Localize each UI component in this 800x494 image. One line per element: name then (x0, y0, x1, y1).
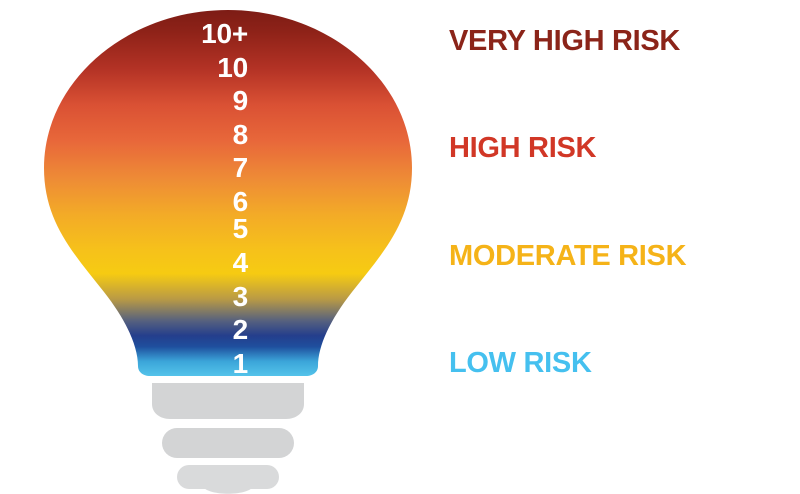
risk-label-moderate: MODERATE RISK (449, 241, 686, 271)
risk-label-high: HIGH RISK (449, 133, 596, 163)
bulb-base-segment-middle (162, 428, 294, 458)
risk-label-low: LOW RISK (449, 348, 592, 378)
bulb-base-segment-top (152, 383, 304, 419)
light-bulb-svg (0, 0, 460, 494)
light-bulb-figure (0, 0, 460, 494)
bulb-base-segment-bottom (177, 465, 279, 494)
risk-scale-infographic: 10+ 10 9 8 7 6 5 4 3 2 1 VERY HIGH RISK … (0, 0, 800, 494)
risk-band-legend: VERY HIGH RISK HIGH RISK MODERATE RISK L… (449, 0, 800, 494)
bulb-glass (44, 10, 412, 376)
risk-label-very-high: VERY HIGH RISK (449, 26, 680, 56)
